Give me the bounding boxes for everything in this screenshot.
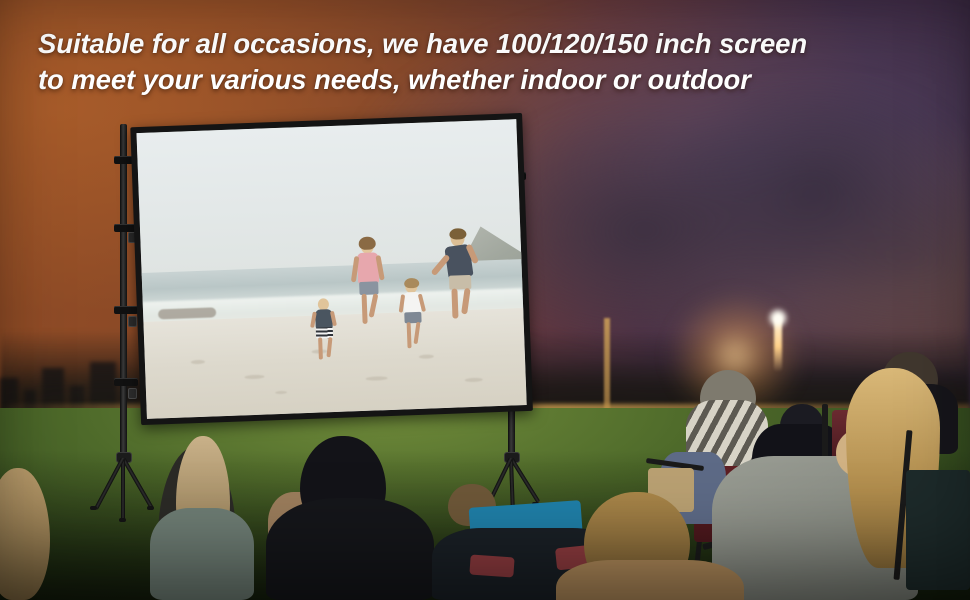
marketing-banner: Suitable for all occasions, we have 100/…: [0, 0, 970, 600]
viewer-child-front-body: [556, 560, 744, 600]
headline: Suitable for all occasions, we have 100/…: [38, 26, 918, 99]
headline-line-2: to meet your various needs, whether indo…: [38, 62, 918, 98]
viewer-edge-left-hair: [0, 468, 50, 600]
headline-line-1: Suitable for all occasions, we have 100/…: [38, 26, 918, 62]
viewer-shoe: [469, 554, 514, 577]
viewer-sitting-grass-left-jacket: [150, 508, 254, 600]
chair-back: [906, 470, 970, 590]
viewer-jacket-center-body: [266, 498, 434, 600]
